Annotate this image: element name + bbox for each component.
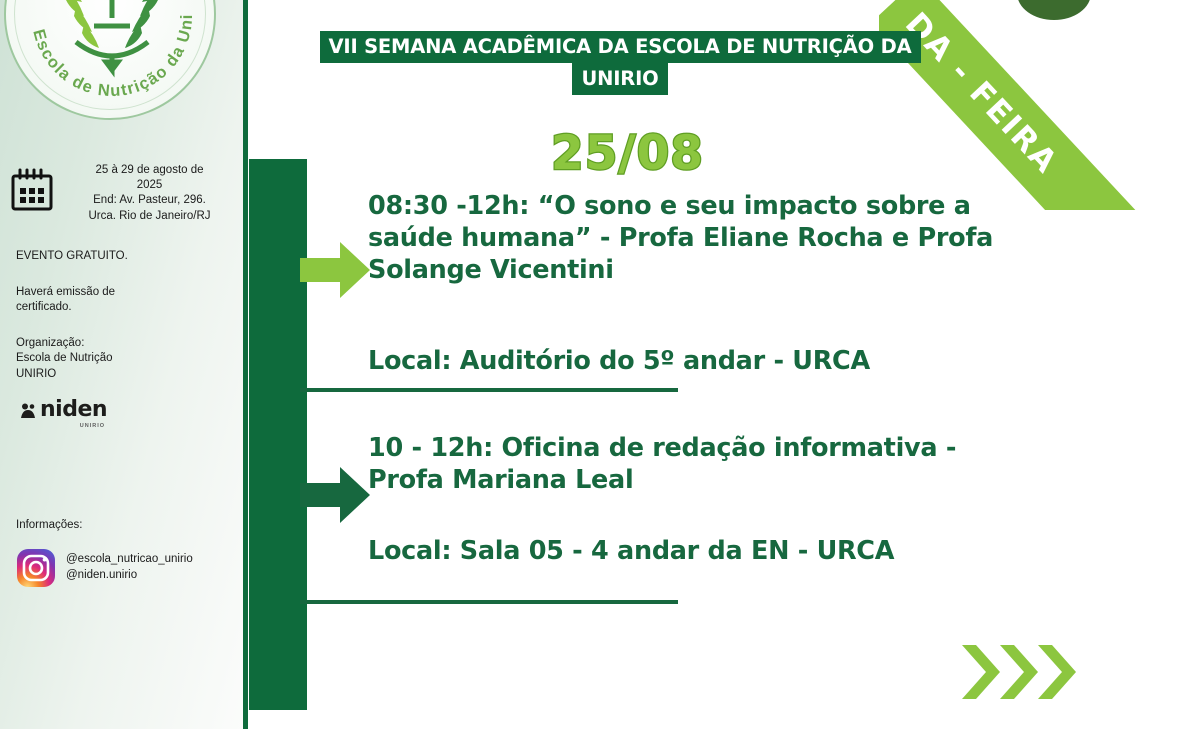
event-date-address: 25 à 29 de agosto de 2025 End: Av. Paste… bbox=[63, 163, 238, 224]
date-line-2: 2025 bbox=[63, 178, 236, 193]
instagram-handle-escola[interactable]: @escola_nutricao_unirio bbox=[66, 552, 193, 568]
section-divider-2 bbox=[300, 600, 678, 604]
date-line-1: 25 à 29 de agosto de bbox=[63, 163, 236, 178]
instagram-handle-niden[interactable]: @niden.unirio bbox=[66, 568, 193, 584]
niden-wordmark: niden bbox=[40, 399, 107, 421]
niden-subtitle: UNIRIO bbox=[80, 423, 105, 429]
organization-label: Organização: bbox=[16, 336, 231, 351]
date-line-4: Urca. Rio de Janeiro/RJ bbox=[63, 209, 236, 224]
poster-canvas: Escola de Nutrição da Unirio bbox=[0, 0, 1179, 729]
event-2-location: Local: Sala 05 - 4 andar da EN - URCA bbox=[368, 535, 1008, 567]
vertical-green-bar bbox=[249, 159, 307, 710]
escola-nutricao-seal-logo: Escola de Nutrição da Unirio bbox=[4, 0, 216, 120]
organization-note: Organização: Escola de Nutrição UNIRIO bbox=[16, 336, 231, 382]
date-line-3: End: Av. Pasteur, 296. bbox=[63, 193, 236, 208]
organization-name: Escola de Nutrição bbox=[16, 351, 231, 366]
poster-title-line-1: VII SEMANA ACADÊMICA DA ESCOLA DE NUTRIÇ… bbox=[320, 31, 921, 63]
schedule-date: 25/08 bbox=[551, 126, 704, 181]
decorative-dark-circle bbox=[1017, 0, 1091, 20]
event-date-row: 25 à 29 de agosto de 2025 End: Av. Paste… bbox=[10, 163, 238, 224]
sidebar: Escola de Nutrição da Unirio bbox=[0, 0, 248, 729]
svg-text:Escola de Nutrição da Unirio: Escola de Nutrição da Unirio bbox=[6, 0, 196, 100]
niden-mark-icon bbox=[20, 402, 37, 419]
niden-logo: niden UNIRIO bbox=[20, 399, 107, 421]
calendar-icon bbox=[10, 168, 54, 212]
seal-artwork: Escola de Nutrição da Unirio bbox=[6, 0, 218, 122]
instagram-handles[interactable]: @escola_nutricao_unirio @niden.unirio bbox=[66, 552, 193, 584]
certificate-note: Haverá emissão de certificado. bbox=[16, 285, 231, 316]
event-1-title: 08:30 -12h: “O sono e seu impacto sobre … bbox=[368, 190, 1008, 286]
chevrons-decoration-icon bbox=[960, 643, 1090, 701]
info-label: Informações: bbox=[16, 518, 231, 533]
certificate-line-2: certificado. bbox=[16, 300, 231, 315]
poster-title: VII SEMANA ACADÊMICA DA ESCOLA DE NUTRIÇ… bbox=[300, 31, 940, 95]
event-1-location: Local: Auditório do 5º andar - URCA bbox=[368, 345, 1008, 377]
free-event-note: EVENTO GRATUITO. bbox=[16, 249, 231, 264]
poster-title-line-2: UNIRIO bbox=[572, 63, 667, 95]
instagram-icon[interactable] bbox=[16, 548, 56, 588]
certificate-line-1: Haverá emissão de bbox=[16, 285, 231, 300]
organization-unit: UNIRIO bbox=[16, 367, 231, 382]
event-1-arrow-icon bbox=[300, 234, 372, 306]
instagram-row[interactable]: @escola_nutricao_unirio @niden.unirio bbox=[16, 548, 193, 588]
event-2-title: 10 - 12h: Oficina de redação informativa… bbox=[368, 432, 1008, 496]
event-2-arrow-icon bbox=[300, 459, 372, 531]
section-divider-1 bbox=[300, 388, 678, 392]
